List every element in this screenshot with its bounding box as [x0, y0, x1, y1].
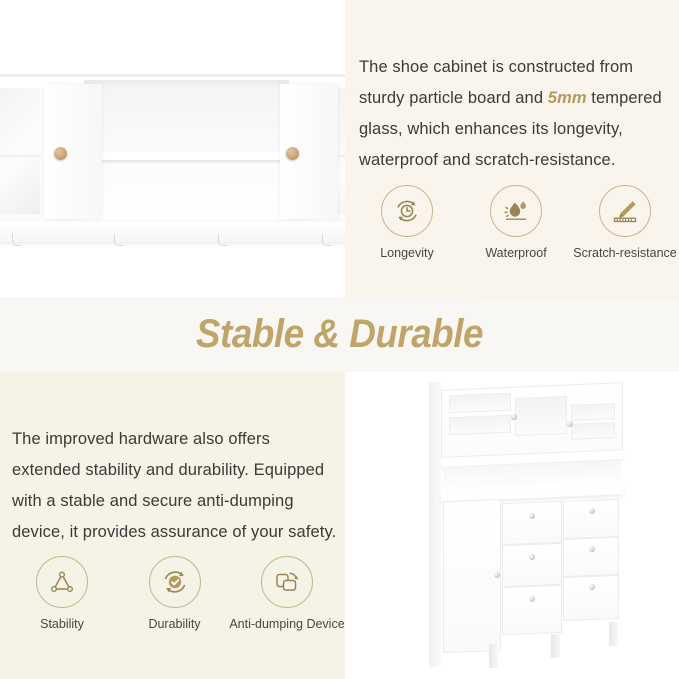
- drawer-front: [502, 501, 562, 545]
- feature-label: Scratch-resistance: [573, 246, 677, 260]
- water-droplet-icon: [500, 195, 532, 227]
- check-cycle-icon: [159, 566, 191, 598]
- longevity-icon-circle: [381, 185, 433, 237]
- drawer-knob: [589, 584, 595, 590]
- section-title: Stable & Durable: [27, 297, 652, 372]
- cabinet-door-left: [443, 499, 501, 653]
- feature-label: Longevity: [380, 246, 434, 260]
- tip-over-arrow-icon: [271, 566, 303, 598]
- glass-shelf-left: [0, 150, 40, 155]
- waterproof-icon-circle: [490, 185, 542, 237]
- drawer-front: [502, 543, 562, 587]
- bottom-description-paragraph: The improved hardware also offers extend…: [12, 424, 342, 548]
- feature-label: Durability: [148, 617, 200, 631]
- cabinet-side-panel: [429, 382, 441, 668]
- drawer-knob: [529, 596, 535, 602]
- top-description-paragraph: The shoe cabinet is constructed from stu…: [359, 52, 669, 176]
- cabinet-foot: [489, 644, 498, 668]
- hutch-cubby: [449, 393, 511, 414]
- drawer-front: [563, 537, 619, 577]
- drawer-knob: [589, 508, 595, 514]
- feature-anti-dumping: Anti-dumping Device: [237, 556, 337, 631]
- scratch-resistance-icon-circle: [599, 185, 651, 237]
- cabinet-foot: [609, 622, 618, 646]
- feature-label: Anti-dumping Device: [229, 617, 344, 631]
- door-knob-left: [54, 147, 67, 160]
- door-knob-right: [286, 147, 299, 160]
- full-cabinet-illustration: [345, 372, 679, 679]
- drawer-knob: [529, 513, 535, 519]
- hutch-cubby: [571, 422, 615, 440]
- cabinet-closeup-illustration: [0, 0, 345, 297]
- top-left-product-photo: [0, 0, 345, 297]
- coat-hook: [114, 234, 123, 246]
- bottom-feature-row: Stability Durability: [12, 556, 337, 631]
- stability-icon-circle: [36, 556, 88, 608]
- hutch-knob: [511, 414, 517, 420]
- drawer-front: [502, 585, 562, 635]
- feature-scratch-resistance: Scratch-resistance: [575, 185, 675, 260]
- cabinet-door-left: [44, 84, 102, 219]
- thickness-highlight: 5mm: [548, 89, 587, 107]
- scratch-pen-icon: [609, 195, 641, 227]
- top-feature-row: Longevity Waterproof: [357, 185, 675, 260]
- door-knob: [494, 572, 500, 578]
- feature-label: Waterproof: [485, 246, 546, 260]
- hutch-cubby: [515, 396, 567, 436]
- drawer-front: [563, 499, 619, 539]
- cabinet-foot: [551, 634, 560, 658]
- triangle-nodes-icon: [46, 566, 78, 598]
- feature-waterproof: Waterproof: [466, 185, 566, 260]
- feature-stability: Stability: [12, 556, 112, 631]
- feature-label: Stability: [40, 617, 84, 631]
- drawer-knob: [589, 546, 595, 552]
- drawer-front: [563, 575, 619, 621]
- clock-cycle-icon: [391, 195, 423, 227]
- coat-hook: [218, 234, 227, 246]
- cabinet-base-rail: [0, 222, 345, 242]
- coat-hook: [12, 234, 21, 246]
- interior-shelf: [84, 152, 289, 160]
- anti-dumping-icon-circle: [261, 556, 313, 608]
- coat-hook: [322, 234, 331, 246]
- drawer-knob: [529, 554, 535, 560]
- feature-durability: Durability: [125, 556, 225, 631]
- cabinet-interior: [84, 80, 289, 220]
- hutch-knob: [567, 421, 573, 427]
- hutch-cubby: [449, 415, 511, 436]
- bottom-right-product-photo: [345, 372, 679, 679]
- durability-icon-circle: [149, 556, 201, 608]
- section-banner-band: Stable & Durable: [0, 297, 679, 372]
- hutch-cubby: [571, 403, 615, 421]
- feature-longevity: Longevity: [357, 185, 457, 260]
